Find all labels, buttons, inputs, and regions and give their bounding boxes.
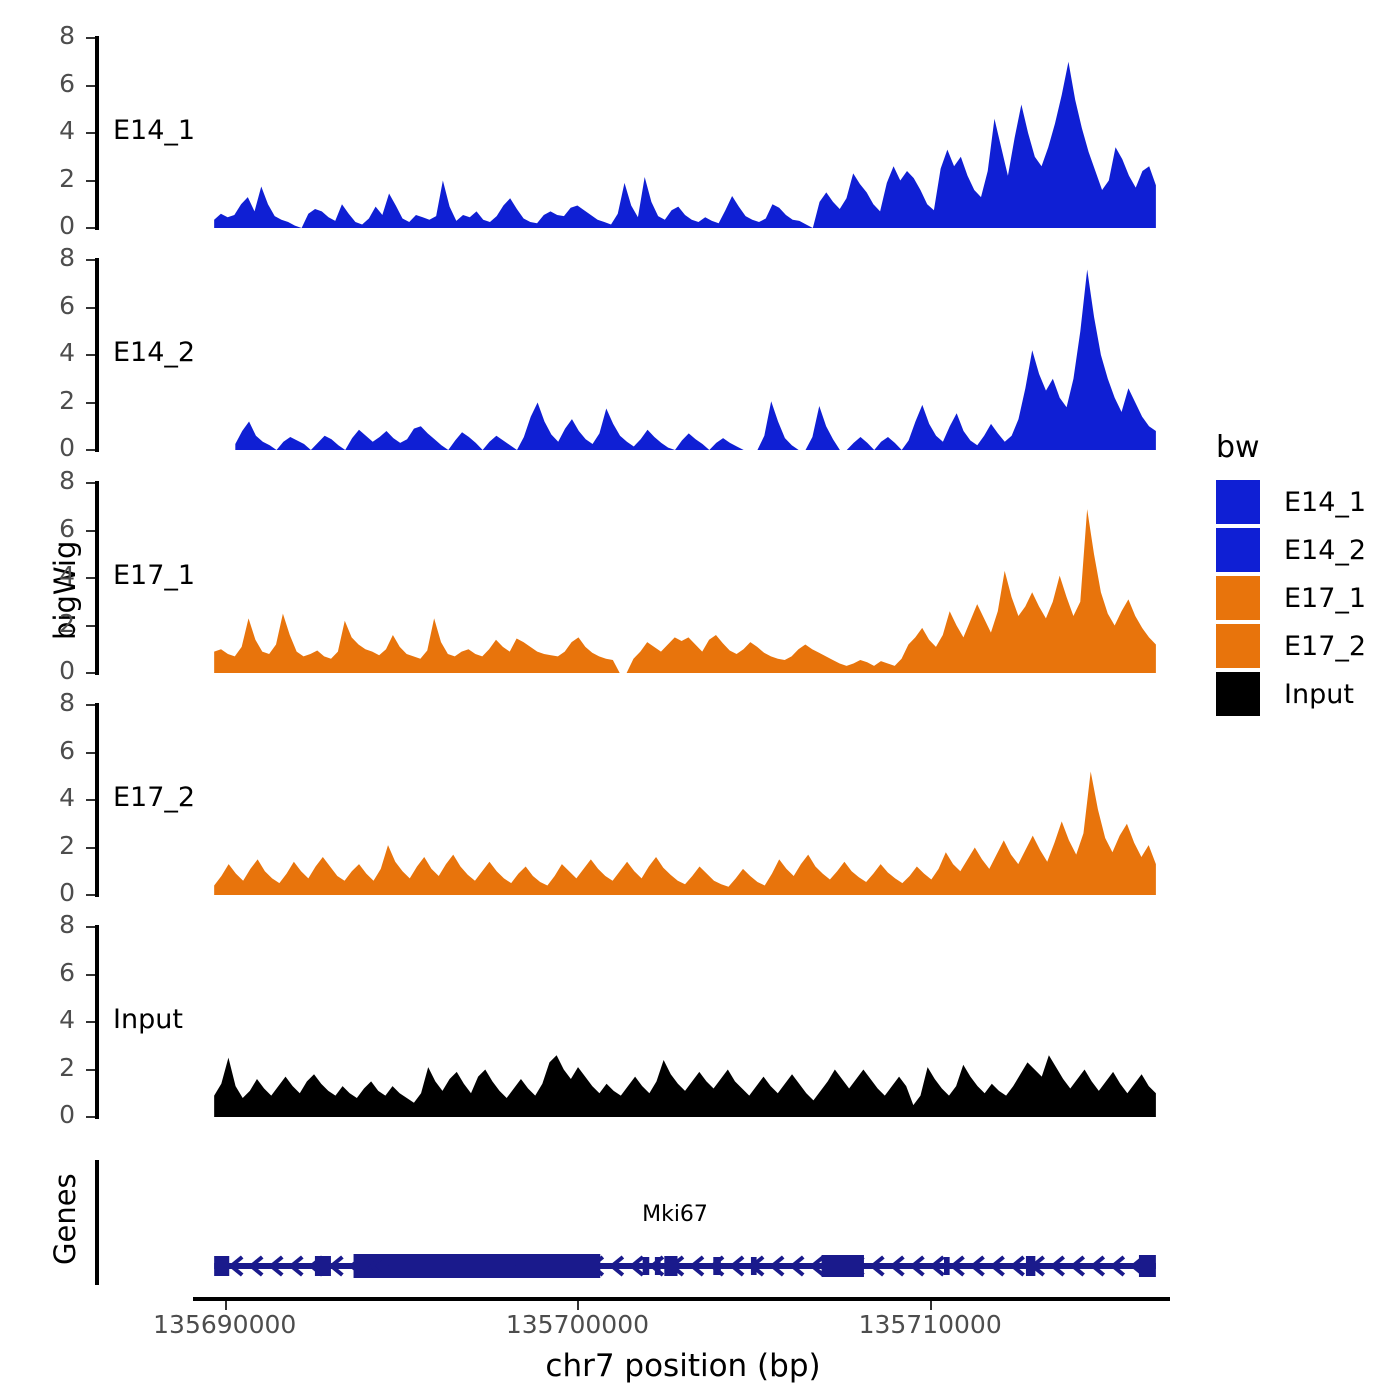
legend-color-swatch bbox=[1216, 480, 1260, 524]
x-axis-title: chr7 position (bp) bbox=[545, 1348, 820, 1384]
x-tick-label: 135710000 bbox=[859, 1310, 1002, 1339]
legend-label: Input bbox=[1284, 679, 1354, 710]
x-tick-mark bbox=[577, 1301, 579, 1310]
legend-item-e14_1[interactable]: E14_1 bbox=[1216, 480, 1366, 524]
legend-color-swatch bbox=[1216, 528, 1260, 572]
legend-item-e17_1[interactable]: E17_1 bbox=[1216, 576, 1366, 620]
x-tick-mark bbox=[225, 1301, 227, 1310]
legend-color-swatch bbox=[1216, 672, 1260, 716]
legend-color-swatch bbox=[1216, 624, 1260, 668]
gene-exon bbox=[643, 1257, 650, 1275]
legend-label: E17_1 bbox=[1284, 583, 1366, 614]
legend-label: E14_1 bbox=[1284, 487, 1366, 518]
gene-exon bbox=[944, 1257, 950, 1275]
legend-label: E17_2 bbox=[1284, 631, 1366, 662]
gene-exon bbox=[214, 1256, 229, 1276]
x-axis-line bbox=[193, 1297, 1170, 1301]
legend-label: E14_2 bbox=[1284, 535, 1366, 566]
gene-model bbox=[0, 0, 1400, 1400]
legend-item-e17_2[interactable]: E17_2 bbox=[1216, 624, 1366, 668]
legend-title: bw bbox=[1216, 430, 1260, 465]
legend-color-swatch bbox=[1216, 576, 1260, 620]
x-tick-mark bbox=[930, 1301, 932, 1310]
legend-item-e14_2[interactable]: E14_2 bbox=[1216, 528, 1366, 572]
x-tick-label: 135700000 bbox=[506, 1310, 649, 1339]
x-tick-label: 135690000 bbox=[153, 1310, 296, 1339]
legend-item-input[interactable]: Input bbox=[1216, 672, 1354, 716]
genome-browser-figure: bigWig Genes 02468E14_102468E14_202468E1… bbox=[0, 0, 1400, 1400]
